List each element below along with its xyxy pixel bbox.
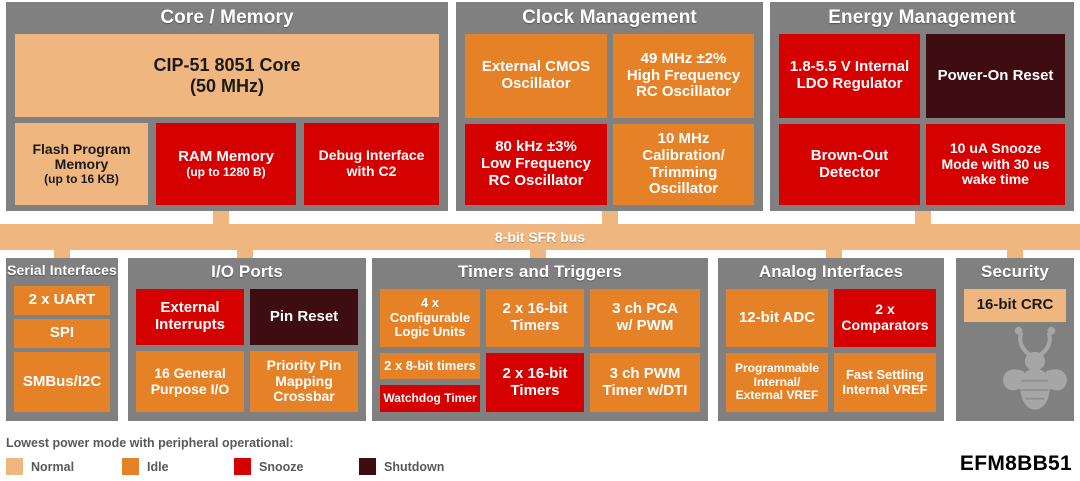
block-pwm-timer-dti: 3 ch PWM Timer w/DTI (590, 353, 700, 412)
block-diagram: Core / Memory CIP-51 8051 Core (50 MHz) … (0, 0, 1080, 481)
legend-swatch-shutdown (359, 458, 376, 475)
block-line: Flash Program (32, 142, 130, 158)
block-line: 1.8-5.5 V Internal (790, 59, 909, 76)
block-spi: SPI (14, 319, 110, 348)
block-line: Logic Units (395, 325, 466, 340)
block-line: wake time (962, 172, 1029, 188)
block-line: CIP-51 8051 Core (153, 55, 300, 75)
block-line: SMBus/I2C (23, 374, 101, 391)
legend-label-shutdown: Shutdown (384, 460, 444, 474)
block-line: Timer w/DTI (603, 383, 688, 400)
panel-clock-management: Clock Management External CMOS Oscillato… (456, 2, 763, 211)
panel-io-ports: I/O Ports External Interrupts Pin Reset … (128, 258, 366, 421)
panel-title-analog-interfaces: Analog Interfaces (718, 263, 944, 281)
block-line: 12-bit ADC (739, 310, 815, 327)
block-line: Brown-Out (811, 148, 888, 165)
block-configurable-logic-units: 4 x Configurable Logic Units (380, 289, 480, 347)
block-line: Internal VREF (842, 383, 927, 398)
panel-analog-interfaces: Analog Interfaces 12-bit ADC 2 x Compara… (718, 258, 944, 421)
block-line: Watchdog Timer (383, 392, 476, 405)
block-line: Programmable (735, 362, 819, 375)
block-line: Pin Reset (270, 309, 338, 326)
block-line: Detector (819, 165, 880, 182)
block-external-cmos-oscillator: External CMOS Oscillator (465, 34, 607, 118)
legend-label-normal: Normal (31, 460, 74, 474)
block-line: RC Oscillator (488, 173, 583, 190)
block-line: Timers (511, 383, 560, 400)
block-8bit-timers: 2 x 8-bit timers (380, 353, 480, 379)
block-smbus-i2c: SMBus/I2C (14, 352, 110, 412)
block-line: 10 MHz (658, 131, 710, 148)
block-ldo-regulator: 1.8-5.5 V Internal LDO Regulator (779, 34, 920, 118)
panel-title-security: Security (956, 263, 1074, 281)
block-line: 2 x 8-bit timers (384, 359, 476, 374)
bee-icon (996, 326, 1074, 412)
block-line: Oscillator (501, 76, 570, 93)
block-line: Trimming (650, 165, 718, 182)
block-line: RAM Memory (178, 149, 274, 166)
block-line: Oscillator (649, 181, 718, 198)
block-line: External (160, 300, 219, 317)
part-number: EFM8BB51 (960, 452, 1072, 476)
legend-caption: Lowest power mode with peripheral operat… (6, 436, 294, 450)
panel-energy-management: Energy Management 1.8-5.5 V Internal LDO… (770, 2, 1074, 211)
panel-timers-and-triggers: Timers and Triggers 4 x Configurable Log… (372, 258, 708, 421)
block-line: (up to 1280 B) (186, 166, 265, 179)
legend-item-idle: Idle (122, 458, 169, 475)
block-line: Mode with 30 us (941, 157, 1049, 173)
block-flash-program-memory: Flash Program Memory (up to 16 KB) (15, 123, 148, 205)
block-external-interrupts: External Interrupts (136, 289, 244, 345)
block-line: RC Oscillator (636, 84, 731, 101)
block-ram-memory: RAM Memory (up to 1280 B) (156, 123, 296, 205)
block-16bit-timers-snooze: 2 x 16-bit Timers (486, 353, 584, 412)
block-line: 2 x UART (29, 292, 96, 309)
block-line: Low Frequency (481, 156, 591, 173)
block-priority-pin-crossbar: Priority Pin Mapping Crossbar (250, 351, 358, 412)
block-16bit-timers-idle: 2 x 16-bit Timers (486, 289, 584, 347)
block-line: (50 MHz) (190, 76, 264, 96)
block-line: 2 x (875, 302, 894, 318)
block-brown-out-detector: Brown-Out Detector (779, 124, 920, 205)
panel-title-serial-interfaces: Serial Interfaces (6, 263, 118, 278)
block-cip51-core: CIP-51 8051 Core (50 MHz) (15, 34, 439, 117)
block-line: SPI (50, 325, 74, 342)
block-line: Internal/ (754, 376, 801, 389)
legend-item-normal: Normal (6, 458, 74, 475)
block-line: 49 MHz ±2% (641, 51, 727, 68)
block-calibration-trimming-oscillator: 10 MHz Calibration/ Trimming Oscillator (613, 124, 754, 205)
block-line: Priority Pin (267, 358, 342, 374)
block-line: External VREF (736, 389, 819, 402)
legend-item-snooze: Snooze (234, 458, 303, 475)
block-power-on-reset: Power-On Reset (926, 34, 1065, 118)
block-line: Comparators (841, 318, 928, 334)
block-line: Timers (511, 318, 560, 335)
block-line: 16 General (154, 366, 226, 382)
legend-item-shutdown: Shutdown (359, 458, 444, 475)
block-line: Memory (55, 157, 109, 173)
panel-core-memory: Core / Memory CIP-51 8051 Core (50 MHz) … (6, 2, 448, 211)
sfr-bus: 8-bit SFR bus (0, 224, 1080, 250)
block-line: with C2 (347, 164, 397, 180)
block-line: Mapping (275, 374, 333, 390)
block-line: 80 kHz ±3% (495, 139, 577, 156)
block-16bit-crc: 16-bit CRC (964, 289, 1066, 322)
block-line: 10 uA Snooze (950, 141, 1041, 157)
block-line: 3 ch PWM (610, 366, 681, 383)
block-line: 2 x 16-bit (502, 366, 567, 383)
legend-label-snooze: Snooze (259, 460, 303, 474)
block-debug-interface: Debug Interface with C2 (304, 123, 439, 205)
legend-swatch-snooze (234, 458, 251, 475)
bus-stub-energy-management (915, 211, 931, 225)
block-line: 4 x (421, 296, 439, 311)
block-snooze-mode: 10 uA Snooze Mode with 30 us wake time (926, 124, 1065, 205)
block-watchdog-timer: Watchdog Timer (380, 385, 480, 412)
legend-swatch-idle (122, 458, 139, 475)
block-fast-settling-vref: Fast Settling Internal VREF (834, 353, 936, 412)
block-line: w/ PWM (617, 318, 674, 335)
legend-label-idle: Idle (147, 460, 169, 474)
block-pca-pwm: 3 ch PCA w/ PWM (590, 289, 700, 347)
block-line: Power-On Reset (938, 68, 1054, 85)
block-line: Interrupts (155, 317, 225, 334)
block-line: Purpose I/O (151, 382, 230, 398)
block-line: Debug Interface (319, 148, 425, 164)
block-programmable-vref: Programmable Internal/ External VREF (726, 353, 828, 412)
panel-title-clock-management: Clock Management (456, 8, 763, 28)
block-line: Fast Settling (846, 368, 924, 383)
block-line: (up to 16 KB) (44, 173, 119, 186)
block-hf-rc-oscillator: 49 MHz ±2% High Frequency RC Oscillator (613, 34, 754, 118)
panel-serial-interfaces: Serial Interfaces 2 x UART SPI SMBus/I2C (6, 258, 118, 421)
block-comparators: 2 x Comparators (834, 289, 936, 347)
bus-stub-core-memory (213, 211, 229, 225)
block-uart: 2 x UART (14, 286, 110, 315)
block-line: 3 ch PCA (612, 301, 678, 318)
sfr-bus-label: 8-bit SFR bus (495, 229, 585, 245)
block-lf-rc-oscillator: 80 kHz ±3% Low Frequency RC Oscillator (465, 124, 607, 205)
block-line: 16-bit CRC (977, 297, 1054, 314)
legend-swatch-normal (6, 458, 23, 475)
block-line: External CMOS (482, 59, 590, 76)
bus-stub-clock-management (602, 211, 618, 225)
panel-title-energy-management: Energy Management (770, 8, 1074, 28)
block-line: Crossbar (273, 389, 334, 405)
block-line: LDO Regulator (797, 76, 903, 93)
panel-title-io-ports: I/O Ports (128, 263, 366, 281)
block-line: Calibration/ (642, 148, 725, 165)
block-general-purpose-io: 16 General Purpose I/O (136, 351, 244, 412)
block-line: Configurable (390, 311, 470, 326)
block-line: High Frequency (627, 68, 740, 85)
block-12bit-adc: 12-bit ADC (726, 289, 828, 347)
block-line: 2 x 16-bit (502, 301, 567, 318)
panel-title-core-memory: Core / Memory (6, 8, 448, 28)
block-pin-reset: Pin Reset (250, 289, 358, 345)
panel-title-timers-and-triggers: Timers and Triggers (372, 263, 708, 281)
